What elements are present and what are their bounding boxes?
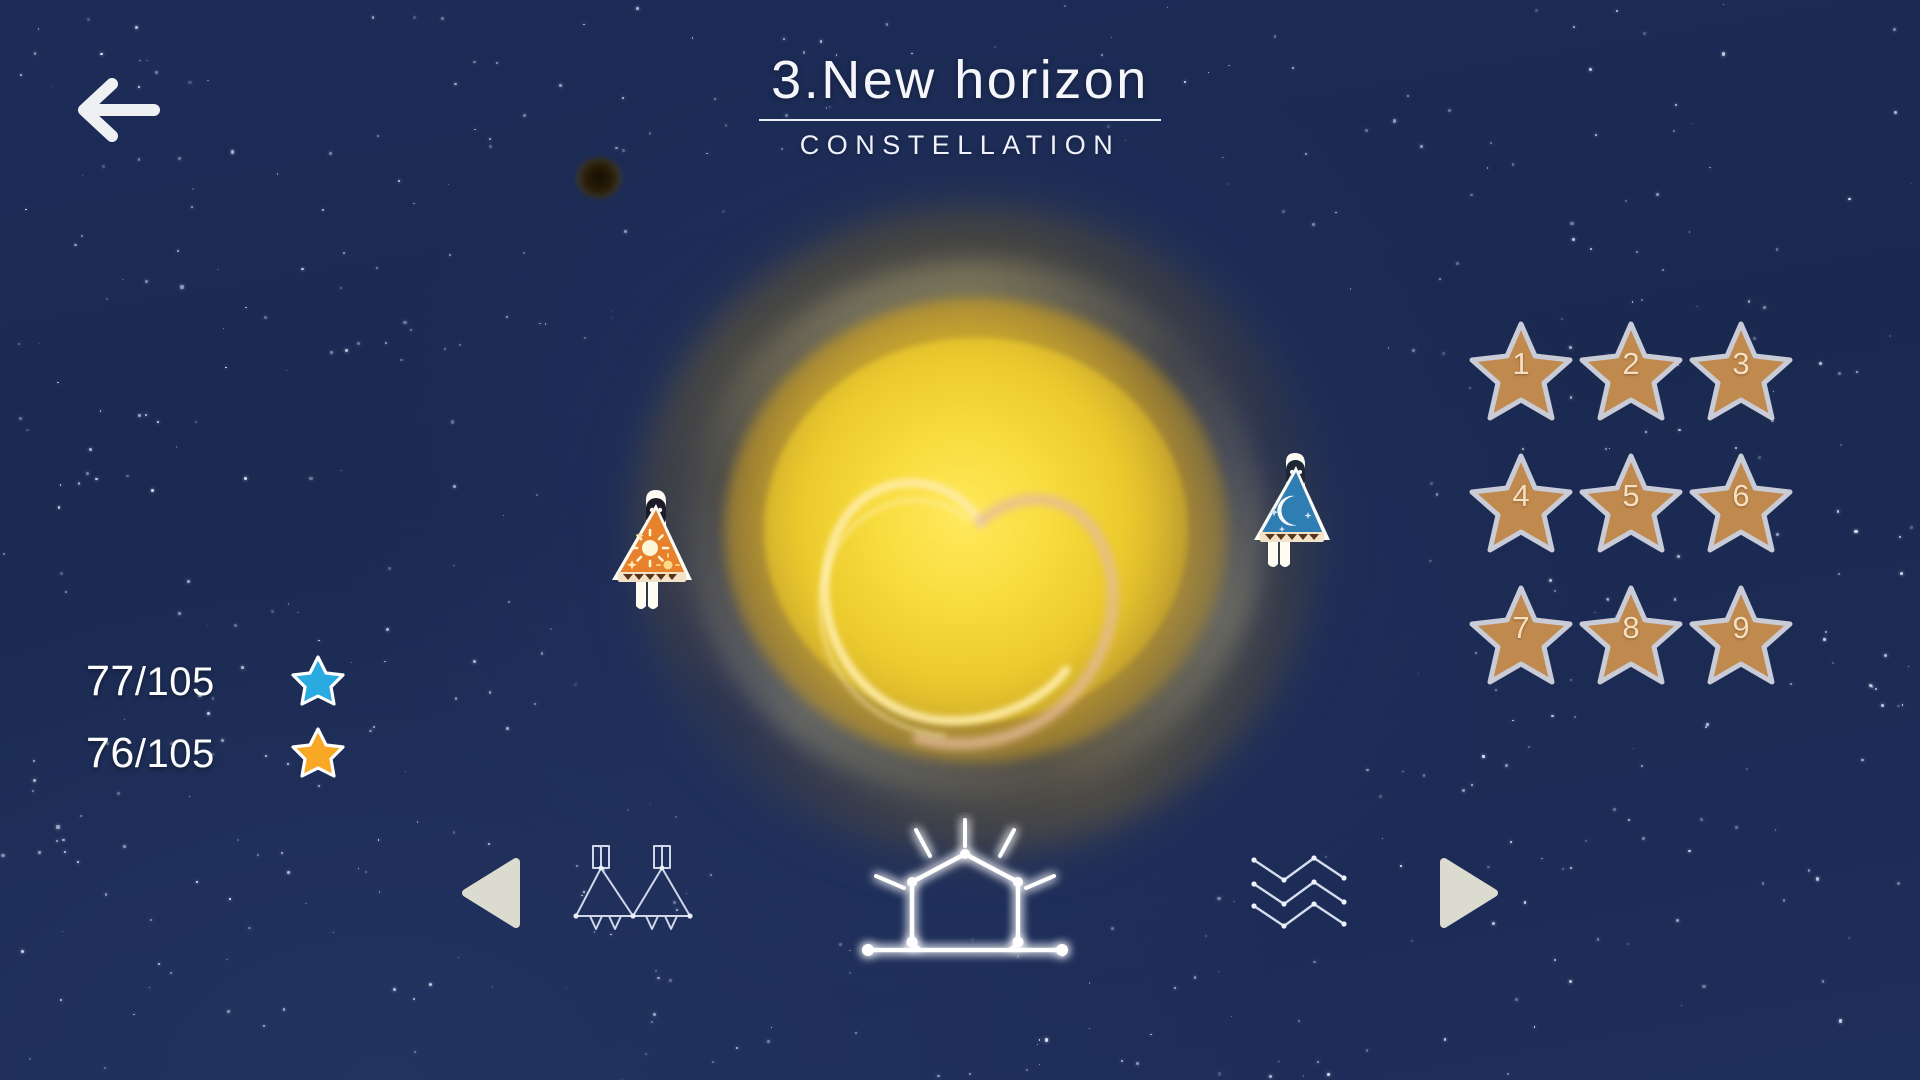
galaxy-swirl — [686, 260, 1266, 800]
prev-constellation-button[interactable] — [460, 856, 522, 930]
level-star-5[interactable]: 5 — [1576, 448, 1686, 556]
constellation-bar — [0, 822, 1920, 972]
gold-score-text: 76/105 — [86, 729, 264, 778]
blue-score-sep: / — [135, 660, 147, 704]
level-star-6[interactable]: 6 — [1686, 448, 1796, 556]
blue-score-total: 105 — [146, 660, 214, 704]
blue-star-icon — [290, 654, 346, 708]
galaxy-star-speckle — [786, 360, 1166, 700]
constellation-prev[interactable] — [568, 838, 698, 948]
level-star-9[interactable]: 9 — [1686, 580, 1796, 688]
sun-character — [596, 486, 696, 616]
new-horizon-icon — [850, 812, 1080, 972]
blue-score-text: 77/105 — [86, 657, 264, 706]
blue-score-value: 77 — [86, 657, 135, 705]
triangle-right-icon — [1438, 856, 1500, 930]
sun-character-icon — [596, 486, 696, 616]
level-star-3[interactable]: 3 — [1686, 316, 1796, 424]
level-star-2[interactable]: 2 — [1576, 316, 1686, 424]
level-star-4[interactable]: 4 — [1466, 448, 1576, 556]
next-constellation-button[interactable] — [1438, 856, 1500, 930]
level-grid: 1 2 3 4 5 6 7 8 — [1466, 316, 1796, 688]
level-star-8[interactable]: 8 — [1576, 580, 1686, 688]
gemini-twins-icon — [568, 838, 698, 948]
score-panel: 77/105 76/105 — [86, 652, 346, 782]
galaxy-dust-ring — [636, 210, 1316, 850]
gold-score-total: 105 — [146, 732, 214, 776]
triangle-left-icon — [460, 856, 522, 930]
game-screen: 3.New horizon CONSTELLATION — [0, 0, 1920, 1080]
galaxy-core — [764, 338, 1188, 722]
gold-star-icon — [290, 726, 346, 780]
score-row-blue: 77/105 — [86, 652, 346, 710]
constellation-current[interactable] — [850, 812, 1080, 972]
back-arrow-icon — [68, 72, 160, 148]
title-block: 3.New horizon CONSTELLATION — [0, 52, 1920, 161]
moon-character — [1240, 450, 1336, 574]
galaxy-center-core — [576, 157, 622, 199]
back-button[interactable] — [68, 72, 160, 148]
page-title: 3.New horizon — [759, 52, 1161, 121]
aquarius-waves-icon — [1248, 844, 1370, 940]
constellation-next[interactable] — [1248, 844, 1370, 940]
score-row-gold: 76/105 — [86, 724, 346, 782]
page-subtitle: CONSTELLATION — [0, 130, 1920, 161]
gold-score-value: 76 — [86, 729, 135, 777]
level-star-7[interactable]: 7 — [1466, 580, 1576, 688]
level-star-1[interactable]: 1 — [1466, 316, 1576, 424]
galaxy-core-glow — [724, 298, 1228, 762]
moon-character-icon — [1240, 450, 1336, 574]
gold-score-sep: / — [135, 732, 147, 776]
